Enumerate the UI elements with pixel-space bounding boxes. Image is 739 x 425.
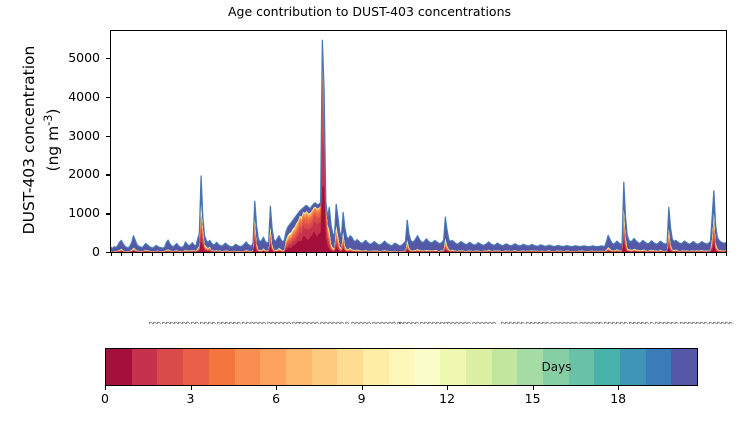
x-tick-mark — [173, 252, 174, 256]
x-tick-mark — [501, 252, 502, 256]
total-concentration-line — [111, 40, 726, 248]
colorbar-band — [183, 349, 209, 385]
y-axis-units-suffix: ) — [44, 109, 62, 115]
colorbar-tick-label: 0 — [90, 391, 120, 406]
colorbar-band — [492, 349, 518, 385]
x-tick-mark — [388, 252, 389, 256]
colorbar-tick-mark — [618, 386, 619, 390]
colorbar-band — [132, 349, 158, 385]
x-tick-mark — [480, 252, 481, 256]
colorbar-band — [646, 349, 672, 385]
y-tick-label: 1000 — [58, 205, 100, 220]
colorbar-tick-mark — [447, 386, 448, 390]
colorbar-band — [286, 349, 312, 385]
colorbar-band — [106, 349, 132, 385]
x-tick-mark — [521, 252, 522, 256]
colorbar-band — [671, 349, 697, 385]
x-tick-mark — [142, 252, 143, 256]
x-tick-mark — [285, 252, 286, 256]
colorbar-band — [209, 349, 235, 385]
x-tick-mark — [275, 252, 276, 256]
x-tick-mark — [111, 252, 112, 256]
x-tick-mark — [224, 252, 225, 256]
x-tick-mark — [695, 252, 696, 256]
x-tick-mark — [162, 252, 163, 256]
x-tick-mark — [378, 252, 379, 256]
x-tick-mark — [234, 252, 235, 256]
colorbar-band — [157, 349, 183, 385]
colorbar-band — [235, 349, 261, 385]
colorbar-tick-mark — [105, 386, 106, 390]
colorbar-tick-label: 3 — [176, 391, 206, 406]
colorbar-band — [543, 349, 569, 385]
x-tick-mark — [439, 252, 440, 256]
colorbar-tick-label: 6 — [261, 391, 291, 406]
x-tick-mark — [296, 252, 297, 256]
colorbar-band — [337, 349, 363, 385]
x-tick-mark — [613, 252, 614, 256]
colorbar-tick-label: 18 — [603, 391, 633, 406]
x-tick-mark — [203, 252, 204, 256]
x-tick-mark — [316, 252, 317, 256]
x-tick-mark — [357, 252, 358, 256]
x-tick-mark — [367, 252, 368, 256]
x-tick-mark — [255, 252, 256, 256]
x-tick-mark — [511, 252, 512, 256]
x-tick-mark — [634, 252, 635, 256]
x-tick-mark — [706, 252, 707, 256]
colorbar-band — [569, 349, 595, 385]
x-tick-mark — [306, 252, 307, 256]
x-tick-mark — [470, 252, 471, 256]
x-tick-mark — [347, 252, 348, 256]
x-tick-mark — [398, 252, 399, 256]
colorbar-band — [363, 349, 389, 385]
y-tick-label: 3000 — [58, 128, 100, 143]
y-axis-units-exponent: -3 — [42, 115, 55, 126]
colorbar-tick-mark — [191, 386, 192, 390]
stacked-area-plot — [111, 31, 726, 252]
colorbar-band — [594, 349, 620, 385]
x-tick-mark — [193, 252, 194, 256]
colorbar[interactable] — [105, 348, 698, 386]
colorbar-band — [260, 349, 286, 385]
colorbar-band — [620, 349, 646, 385]
colorbar-band — [312, 349, 338, 385]
colorbar-tick-label: 9 — [347, 391, 377, 406]
x-tick-mark — [326, 252, 327, 256]
x-tick-mark — [121, 252, 122, 256]
x-tick-mark — [531, 252, 532, 256]
y-tick-label: 2000 — [58, 166, 100, 181]
x-tick-mark — [572, 252, 573, 256]
x-tick-mark — [562, 252, 563, 256]
chart-title: Age contribution to DUST-403 concentrati… — [0, 4, 739, 19]
colorbar-band — [466, 349, 492, 385]
plot-area — [110, 30, 727, 253]
x-tick-mark — [542, 252, 543, 256]
x-tick-mark — [152, 252, 153, 256]
y-tick-label: 4000 — [58, 89, 100, 104]
x-tick-mark — [132, 252, 133, 256]
x-tick-mark — [603, 252, 604, 256]
x-tick-mark — [665, 252, 666, 256]
colorbar-band — [389, 349, 415, 385]
x-tick-mark — [624, 252, 625, 256]
x-tick-mark — [675, 252, 676, 256]
x-tick-mark — [337, 252, 338, 256]
x-tick-mark — [183, 252, 184, 256]
colorbar-tick-mark — [533, 386, 534, 390]
x-tick-mark — [419, 252, 420, 256]
x-tick-mark — [685, 252, 686, 256]
x-tick-mark — [408, 252, 409, 256]
y-tick-label: 0 — [58, 244, 100, 259]
y-axis-label: DUST-403 concentration (ng m-3) — [20, 10, 40, 270]
colorbar-tick-mark — [362, 386, 363, 390]
colorbar-tick-mark — [276, 386, 277, 390]
x-tick-mark — [214, 252, 215, 256]
colorbar-band — [414, 349, 440, 385]
x-tick-mark — [490, 252, 491, 256]
x-tick-mark — [654, 252, 655, 256]
x-tick-mark — [429, 252, 430, 256]
x-tick-mark — [265, 252, 266, 256]
x-tick-labels: 01-Jan-2019 00:0003-Jan-2019 00:0005-Jan… — [104, 262, 734, 324]
x-tick-mark — [726, 252, 727, 256]
y-tick-label: 5000 — [58, 50, 100, 65]
colorbar-band — [440, 349, 466, 385]
y-axis-label-line1: DUST-403 concentration — [20, 46, 38, 235]
x-tick-mark — [583, 252, 584, 256]
colorbar-tick-label: 15 — [518, 391, 548, 406]
colorbar-tick-label: 12 — [432, 391, 462, 406]
x-tick-mark — [244, 252, 245, 256]
x-tick-mark — [716, 252, 717, 256]
x-tick-mark — [460, 252, 461, 256]
x-tick-mark — [593, 252, 594, 256]
figure-canvas: Age contribution to DUST-403 concentrati… — [0, 0, 739, 425]
x-tick-mark — [644, 252, 645, 256]
x-tick-mark — [449, 252, 450, 256]
x-tick-mark — [552, 252, 553, 256]
colorbar-band — [517, 349, 543, 385]
